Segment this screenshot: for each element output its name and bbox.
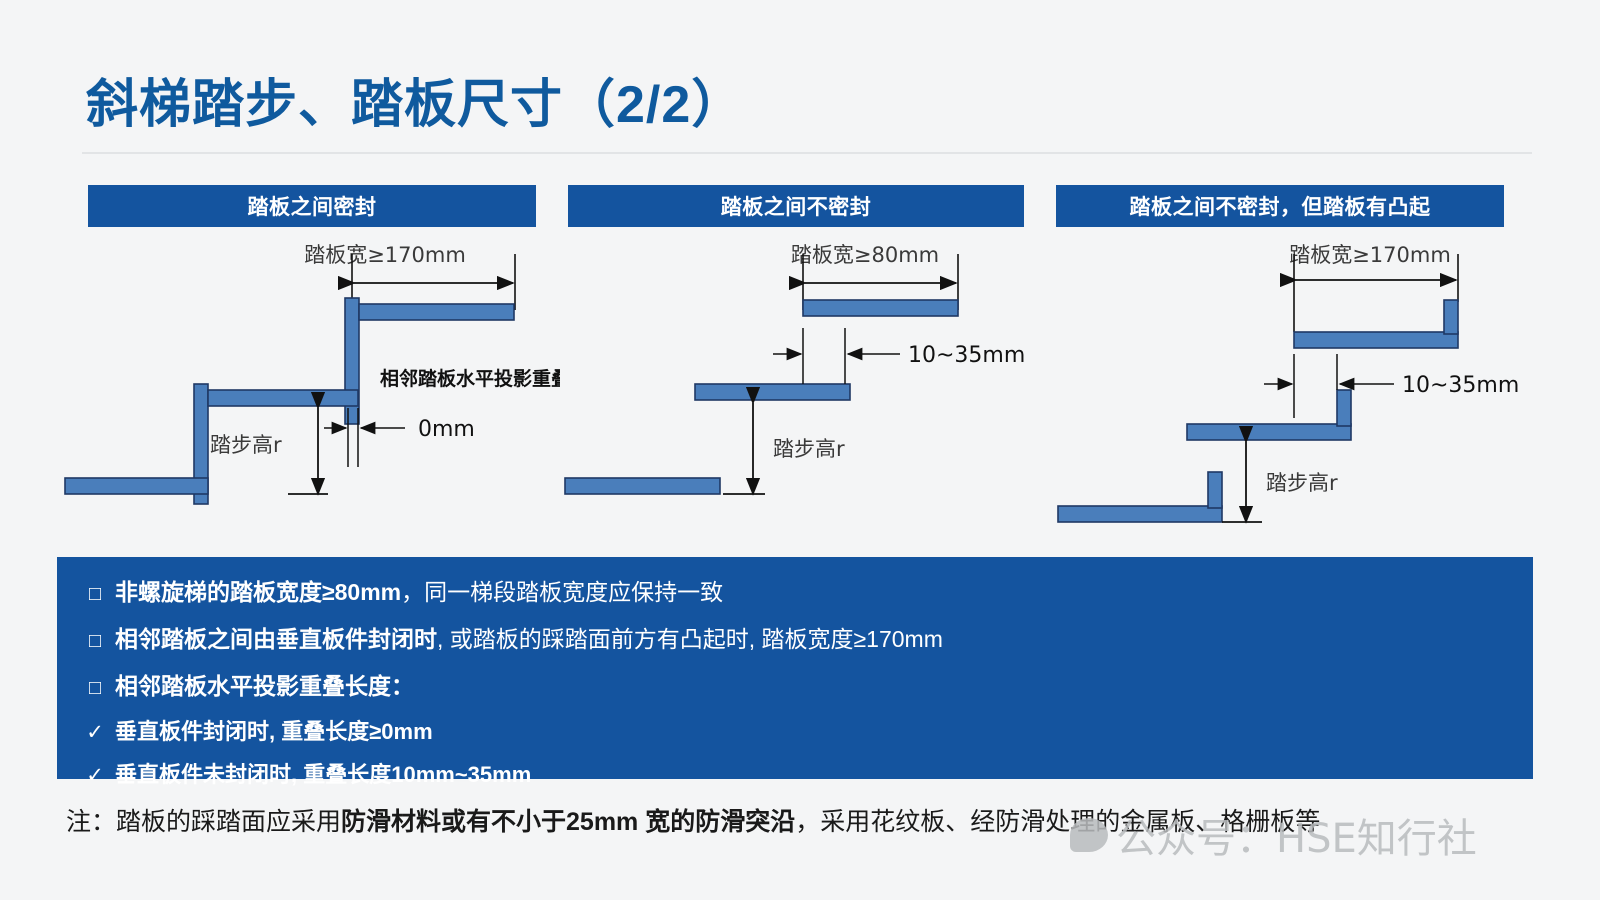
requirement-item: ✓垂直板件未封闭时, 重叠长度10mm~35mm bbox=[75, 757, 1533, 789]
requirements-list: □非螺旋梯的踏板宽度≥80mm，同一梯段踏板宽度应保持一致□相邻踏板之间由垂直板… bbox=[57, 557, 1533, 789]
square-bullet-icon: □ bbox=[75, 631, 115, 651]
requirement-text: 相邻踏板之间由垂直板件封闭时, 或踏板的踩踏面前方有凸起时, 踏板宽度≥170m… bbox=[115, 620, 943, 654]
diagram-unsealed-treads-nosing: 踏板宽≥170mm 10~35mm 踏步高r bbox=[1050, 232, 1550, 542]
square-bullet-icon: □ bbox=[75, 678, 115, 698]
diagram-unsealed-treads: 踏板宽≥80mm 10~35mm 踏步高r bbox=[560, 232, 1040, 542]
square-bullet-icon: □ bbox=[75, 584, 115, 604]
check-icon: ✓ bbox=[75, 722, 115, 743]
overlap-value-3: 10~35mm bbox=[1402, 373, 1519, 398]
overlap-value-1: 0mm bbox=[418, 417, 475, 442]
requirement-text: 垂直板件封闭时, 重叠长度≥0mm bbox=[115, 714, 433, 746]
width-label-2: 踏板宽≥80mm bbox=[791, 243, 939, 267]
requirement-item: □非螺旋梯的踏板宽度≥80mm，同一梯段踏板宽度应保持一致 bbox=[75, 573, 1533, 607]
requirement-text: 垂直板件未封闭时, 重叠长度10mm~35mm bbox=[115, 757, 531, 789]
diagram-sealed-treads: 踏板宽≥170mm 踏步高r 相邻踏板水平投影重叠长度 0m bbox=[60, 232, 560, 542]
overlap-value-2: 10~35mm bbox=[908, 343, 1025, 368]
overlap-title-1: 相邻踏板水平投影重叠长度 bbox=[380, 367, 560, 390]
width-label-1: 踏板宽≥170mm bbox=[304, 243, 466, 267]
column-header-sealed: 踏板之间密封 bbox=[88, 185, 536, 227]
column-header-unsealed-nosing: 踏板之间不密封，但踏板有凸起 bbox=[1056, 185, 1504, 227]
width-label-3: 踏板宽≥170mm bbox=[1289, 243, 1451, 267]
slide-root: 斜梯踏步、踏板尺寸（2/2） 踏板之间密封 踏板之间不密封 踏板之间不密封，但踏… bbox=[0, 0, 1600, 900]
footnote: 注：踏板的踩踏面应采用防滑材料或有不小于25mm 宽的防滑突沿，采用花纹板、经防… bbox=[66, 802, 1546, 838]
step-height-label-1: 踏步高r bbox=[210, 433, 282, 457]
step-height-label-2: 踏步高r bbox=[773, 437, 845, 461]
requirement-text: 相邻踏板水平投影重叠长度： bbox=[115, 667, 414, 701]
step-height-label-3: 踏步高r bbox=[1266, 471, 1338, 495]
footnote-prefix: 注：踏板的踩踏面应采用 bbox=[66, 807, 341, 836]
requirement-item: □相邻踏板之间由垂直板件封闭时, 或踏板的踩踏面前方有凸起时, 踏板宽度≥170… bbox=[75, 620, 1533, 654]
requirement-text: 非螺旋梯的踏板宽度≥80mm，同一梯段踏板宽度应保持一致 bbox=[115, 573, 723, 607]
column-header-unsealed: 踏板之间不密封 bbox=[568, 185, 1024, 227]
footnote-middle: ，采用花纹板、经防滑处理的金属板、格栅板等 bbox=[795, 807, 1320, 836]
requirement-item: ✓垂直板件封闭时, 重叠长度≥0mm bbox=[75, 714, 1533, 746]
requirements-panel: □非螺旋梯的踏板宽度≥80mm，同一梯段踏板宽度应保持一致□相邻踏板之间由垂直板… bbox=[57, 557, 1533, 779]
page-title: 斜梯踏步、踏板尺寸（2/2） bbox=[86, 62, 744, 137]
footnote-bold: 防滑材料或有不小于25mm 宽的防滑突沿 bbox=[341, 808, 795, 836]
title-divider bbox=[82, 152, 1532, 154]
check-icon: ✓ bbox=[75, 765, 115, 786]
requirement-item: □相邻踏板水平投影重叠长度： bbox=[75, 667, 1533, 701]
